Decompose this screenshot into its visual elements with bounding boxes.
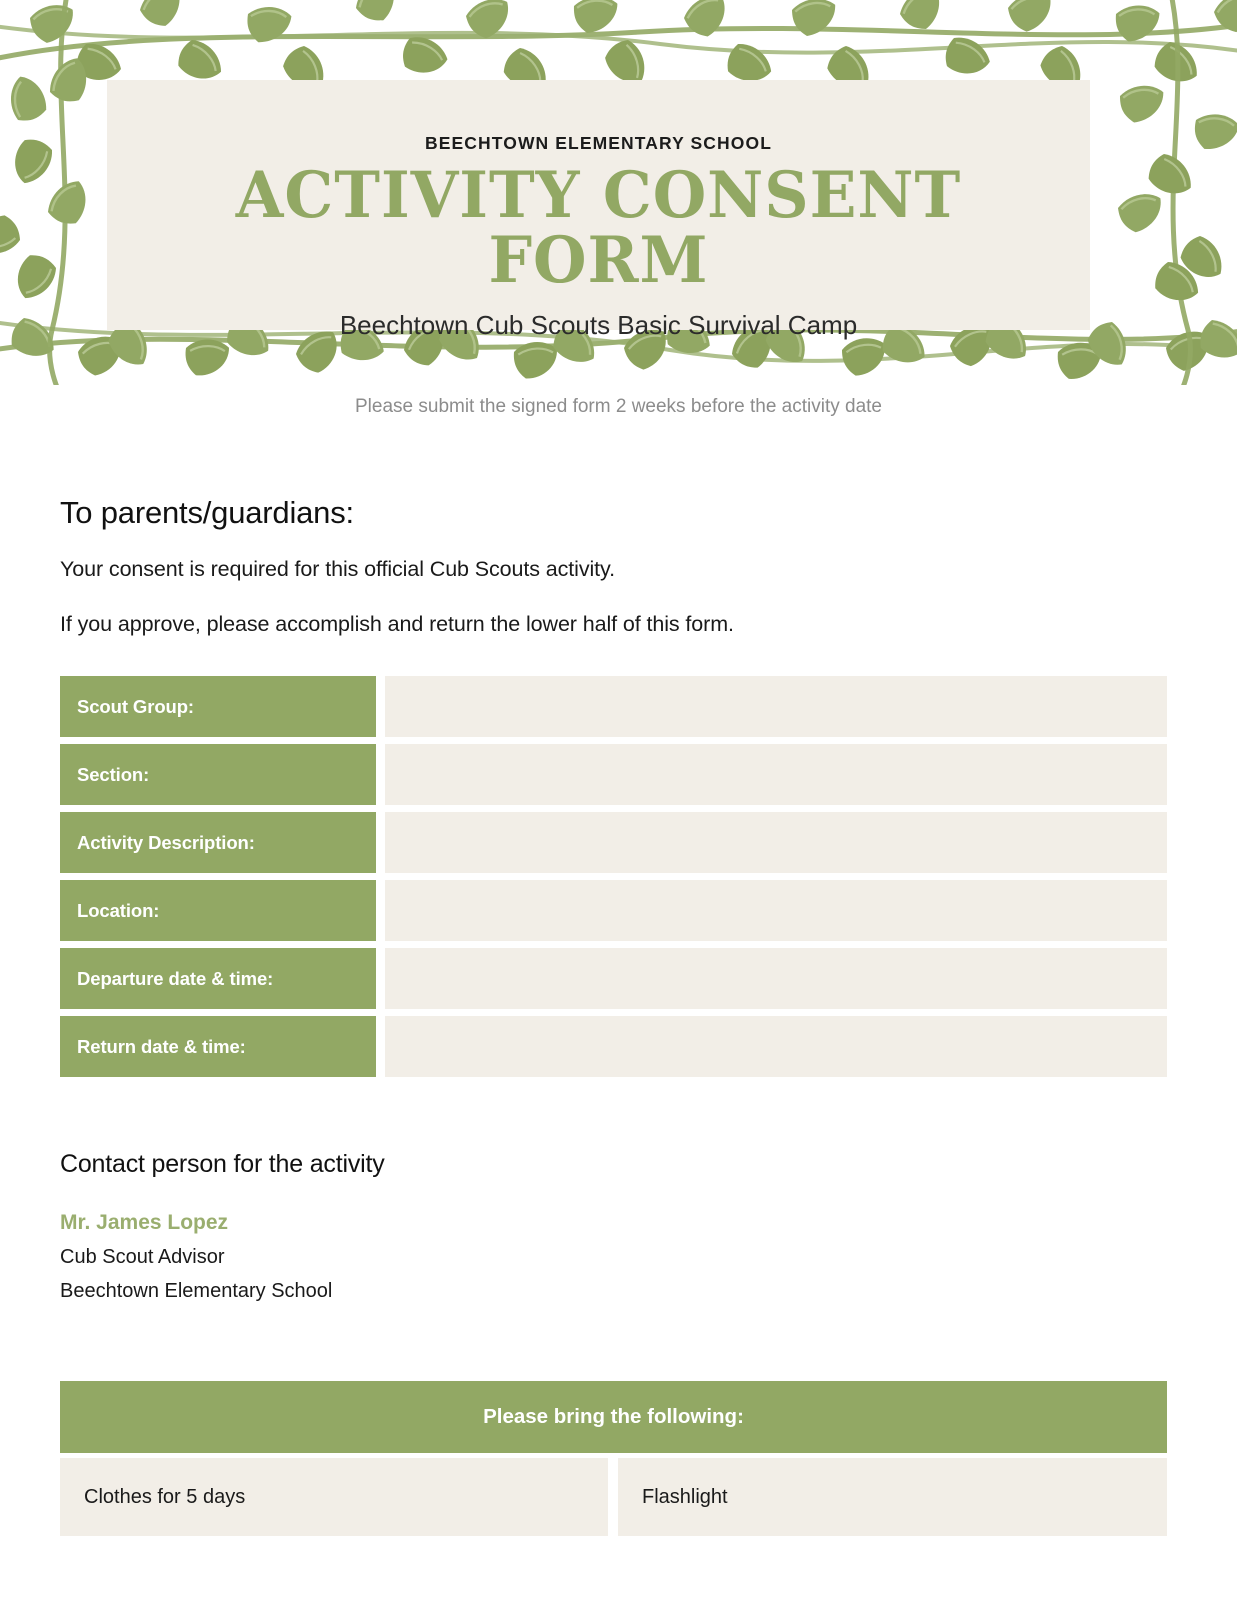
field-label-scout-group: Scout Group: bbox=[60, 676, 376, 737]
bring-list-header: Please bring the following: bbox=[60, 1381, 1167, 1453]
intro-heading: To parents/guardians: bbox=[60, 495, 1170, 531]
contact-name: Mr. James Lopez bbox=[60, 1179, 1170, 1235]
intro-section: To parents/guardians: Your consent is re… bbox=[60, 495, 1170, 637]
field-label-location: Location: bbox=[60, 880, 376, 941]
field-label-return: Return date & time: bbox=[60, 1016, 376, 1077]
header-banner: BEECHTOWN ELEMENTARY SCHOOL ACTIVITY CON… bbox=[107, 80, 1090, 330]
contact-heading: Contact person for the activity bbox=[60, 1150, 1170, 1179]
field-input-activity-description[interactable] bbox=[385, 812, 1167, 873]
table-row: Location: bbox=[60, 880, 1167, 941]
field-input-return[interactable] bbox=[385, 1016, 1167, 1077]
table-row: Scout Group: bbox=[60, 676, 1167, 737]
contact-section: Contact person for the activity Mr. Jame… bbox=[60, 1150, 1170, 1303]
bring-list-section: Please bring the following: Clothes for … bbox=[60, 1381, 1167, 1536]
page-subtitle: Beechtown Cub Scouts Basic Survival Camp bbox=[107, 294, 1090, 341]
contact-role: Cub Scout Advisor bbox=[60, 1235, 1170, 1269]
field-label-departure: Departure date & time: bbox=[60, 948, 376, 1009]
field-input-departure[interactable] bbox=[385, 948, 1167, 1009]
intro-paragraph-2: If you approve, please accomplish and re… bbox=[60, 582, 1170, 637]
table-row: Return date & time: bbox=[60, 1016, 1167, 1077]
bring-item-left: Clothes for 5 days bbox=[60, 1458, 608, 1536]
table-row: Activity Description: bbox=[60, 812, 1167, 873]
field-input-location[interactable] bbox=[385, 880, 1167, 941]
page-title: ACTIVITY CONSENT FORM bbox=[127, 154, 1071, 294]
header-section: BEECHTOWN ELEMENTARY SCHOOL ACTIVITY CON… bbox=[0, 0, 1237, 385]
field-input-scout-group[interactable] bbox=[385, 676, 1167, 737]
form-fields-table: Scout Group: Section: Activity Descripti… bbox=[60, 676, 1167, 1084]
field-label-activity-description: Activity Description: bbox=[60, 812, 376, 873]
table-row: Section: bbox=[60, 744, 1167, 805]
school-name: BEECHTOWN ELEMENTARY SCHOOL bbox=[107, 80, 1090, 154]
intro-paragraph-1: Your consent is required for this offici… bbox=[60, 531, 1170, 582]
submit-notice: Please submit the signed form 2 weeks be… bbox=[0, 396, 1237, 418]
field-input-section[interactable] bbox=[385, 744, 1167, 805]
field-label-section: Section: bbox=[60, 744, 376, 805]
table-row: Departure date & time: bbox=[60, 948, 1167, 1009]
contact-organization: Beechtown Elementary School bbox=[60, 1269, 1170, 1303]
bring-list-row: Clothes for 5 days Flashlight bbox=[60, 1458, 1167, 1536]
bring-item-right: Flashlight bbox=[618, 1458, 1167, 1536]
